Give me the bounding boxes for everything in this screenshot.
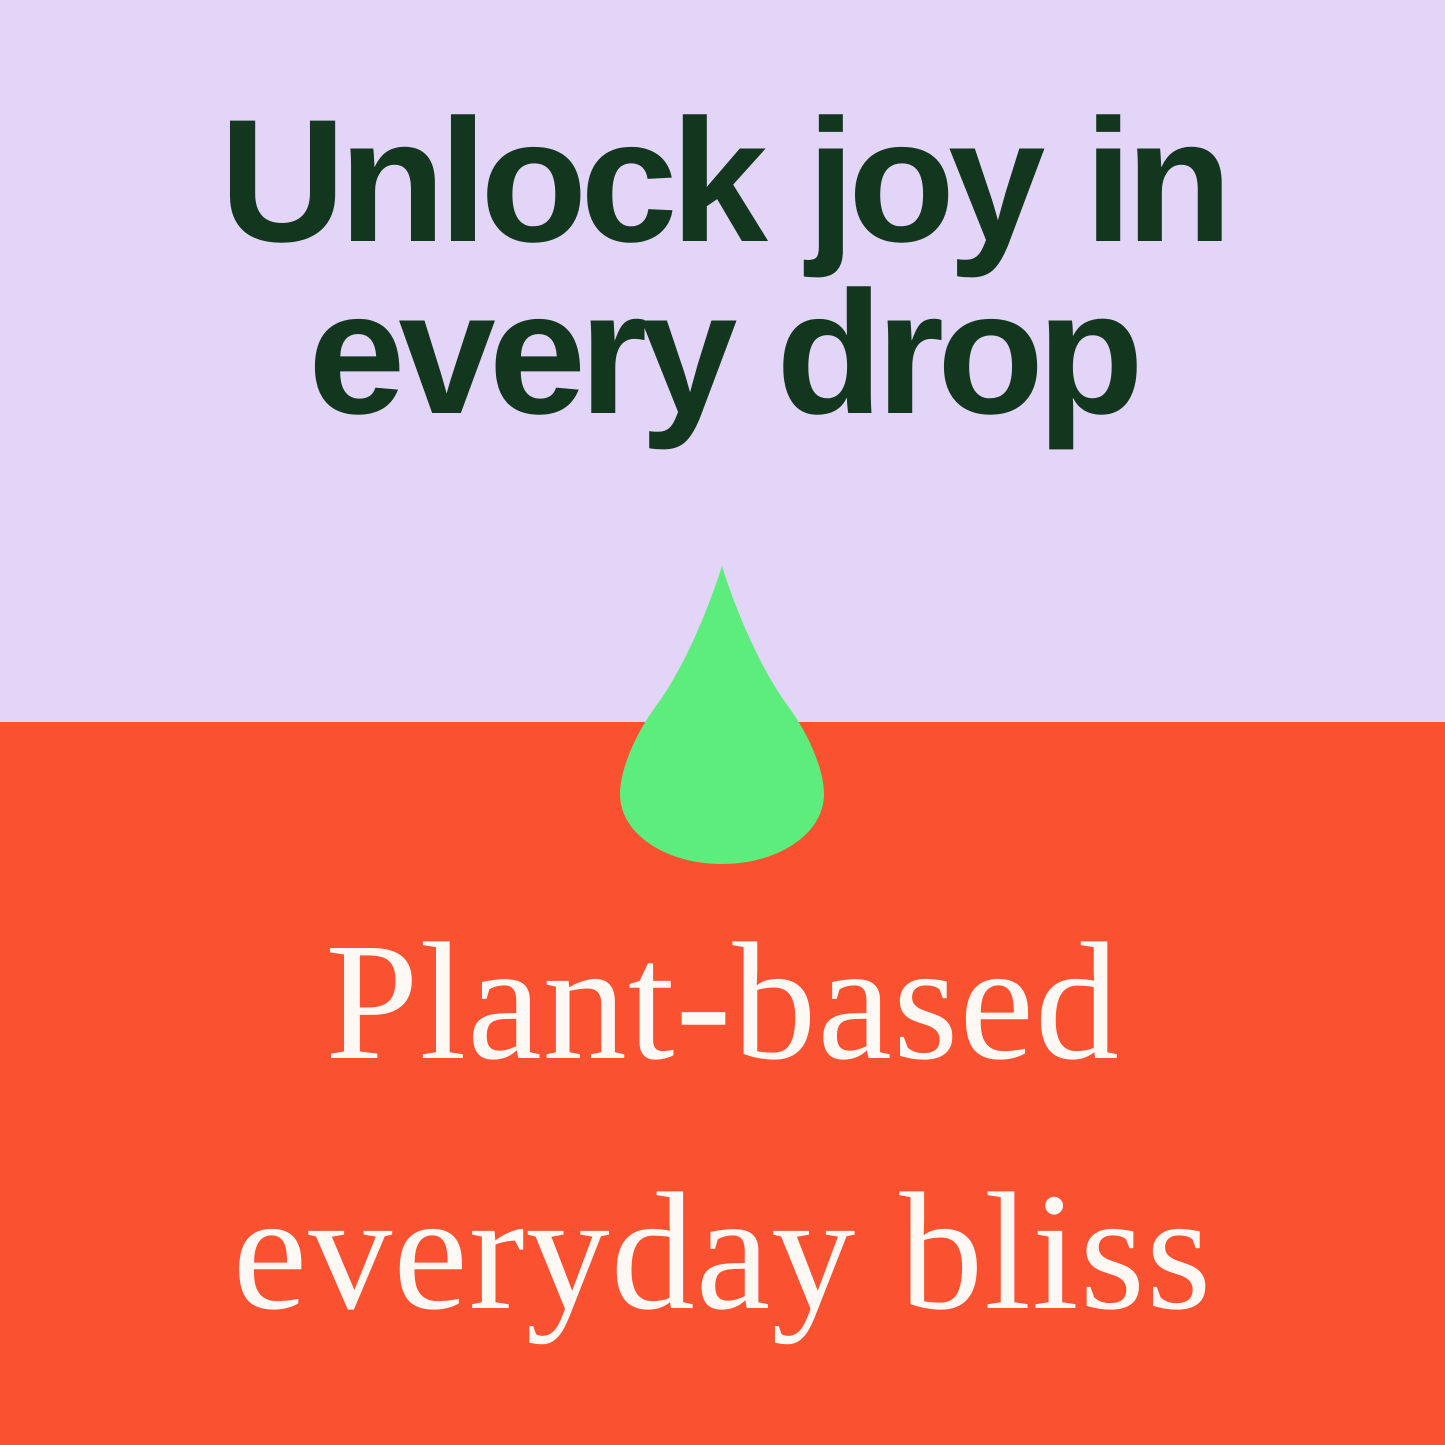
headline: Unlock joy in every drop — [0, 96, 1445, 439]
subheadline-line-2: everyday bliss — [0, 1168, 1445, 1336]
poster-canvas: Unlock joy in every drop Plant-based eve… — [0, 0, 1445, 1445]
water-droplet-shape — [620, 566, 824, 866]
headline-line-1: Unlock joy in — [0, 96, 1445, 268]
headline-line-2: every drop — [0, 268, 1445, 440]
water-droplet-icon — [620, 566, 824, 866]
subheadline-line-1: Plant-based — [0, 918, 1445, 1086]
